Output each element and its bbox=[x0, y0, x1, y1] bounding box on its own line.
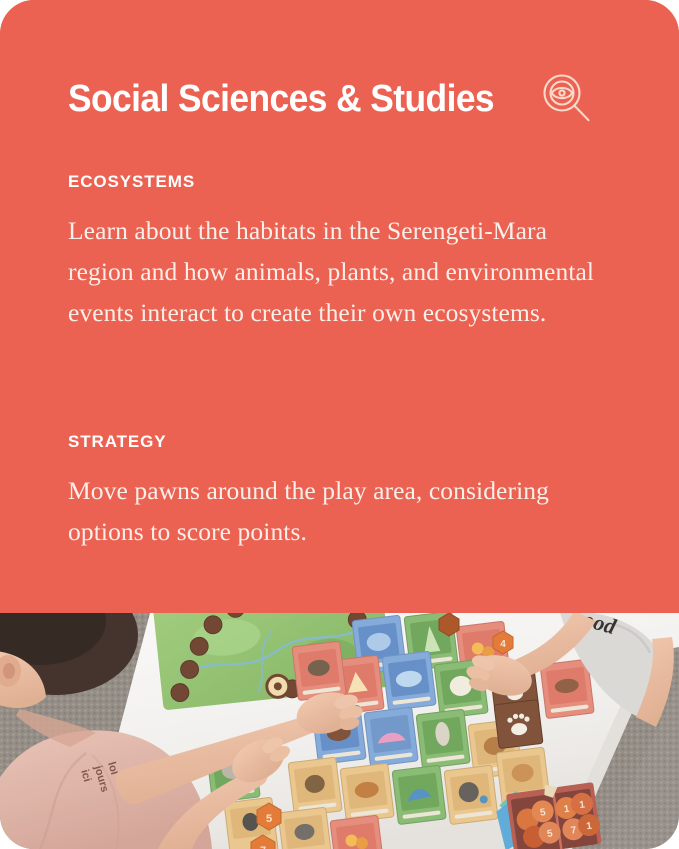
section-heading-strategy: STRATEGY bbox=[68, 432, 619, 452]
subject-info-card: Social Sciences & Studies ECOSYSTEMS Lea… bbox=[0, 0, 679, 849]
gameplay-photo: 4 5 7 bbox=[0, 613, 679, 849]
section-ecosystems: ECOSYSTEMS Learn about the habitats in t… bbox=[68, 172, 619, 333]
section-heading-ecosystems: ECOSYSTEMS bbox=[68, 172, 619, 192]
text-panel: Social Sciences & Studies ECOSYSTEMS Lea… bbox=[0, 0, 679, 613]
title-row: Social Sciences & Studies bbox=[68, 70, 619, 128]
magnifying-glass-eye-icon bbox=[538, 70, 596, 128]
section-strategy: STRATEGY Move pawns around the play area… bbox=[68, 432, 619, 552]
page-title: Social Sciences & Studies bbox=[68, 77, 494, 121]
section-body-ecosystems: Learn about the habitats in the Serenget… bbox=[68, 210, 608, 333]
section-body-strategy: Move pawns around the play area, conside… bbox=[68, 470, 608, 552]
